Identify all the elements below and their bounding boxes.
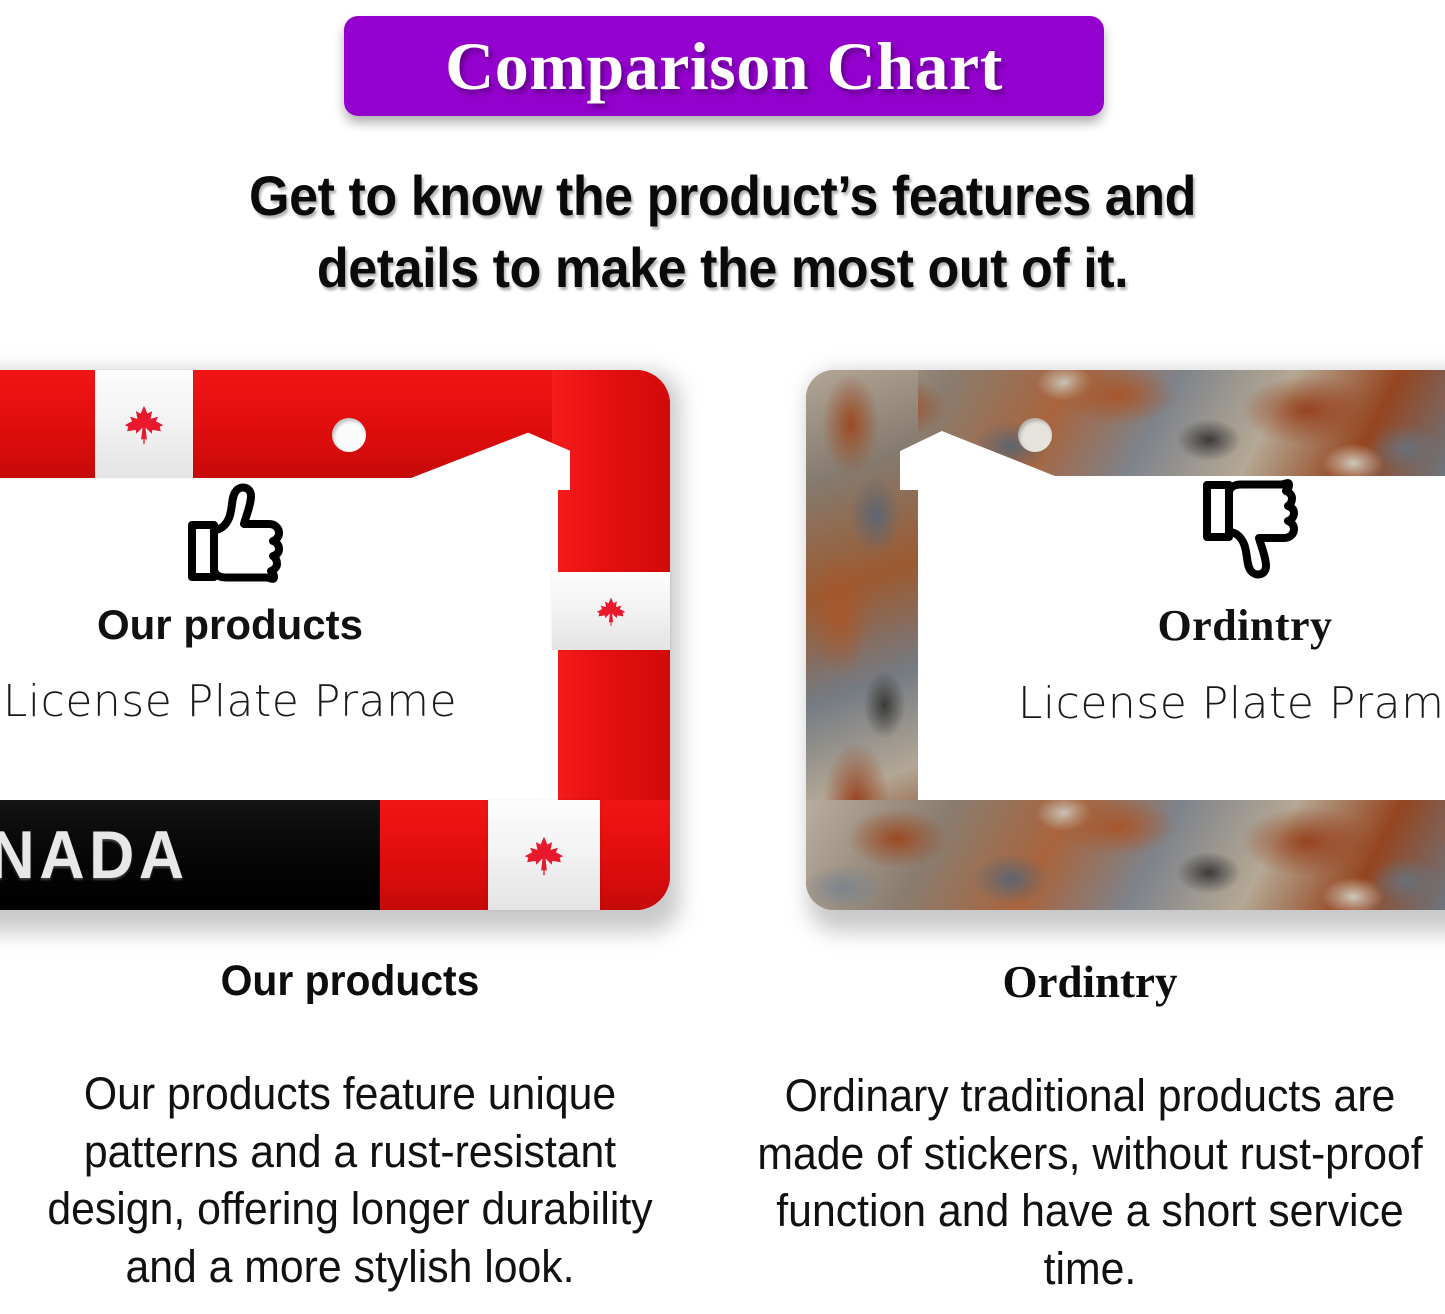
panel-title-ours: Our products (0, 604, 540, 646)
canadian-flag-patch-top (95, 370, 193, 478)
description-body-ordinary: Ordinary traditional products are made o… (753, 1067, 1428, 1297)
panel-subtitle-ordinary: License Plate Prame (930, 682, 1445, 726)
thumbs-up-icon (174, 478, 286, 584)
mounting-hole (332, 418, 366, 452)
frame-bottom-bar (806, 800, 1445, 910)
panel-subtitle-ours: License Plate Prame (0, 680, 540, 724)
product-panel-ordinary: Ordintry License Plate Prame (800, 360, 1445, 920)
canada-plate-band: CANADA (0, 800, 380, 910)
panel-content-ours: Our products License Plate Prame (0, 478, 540, 724)
mounting-hole (1018, 418, 1052, 452)
plate-text: CANADA (0, 816, 189, 894)
panel-content-ordinary: Ordintry License Plate Prame (930, 478, 1445, 726)
description-column-ordinary: Ordintry Ordinary traditional products a… (735, 960, 1445, 1297)
description-column-ours: Our products Our products feature unique… (0, 960, 700, 1295)
description-body-ours: Our products feature unique patterns and… (18, 1065, 683, 1295)
canadian-flag-patch-right (552, 572, 670, 650)
panel-title-ordinary: Ordintry (930, 604, 1445, 648)
description-heading-ordinary: Ordintry (735, 960, 1445, 1005)
thumbs-down-icon (1189, 478, 1301, 584)
description-section: Our products Our products feature unique… (0, 960, 1445, 1314)
description-heading-ours: Our products (18, 960, 683, 1003)
canadian-flag-patch-bottom (488, 800, 600, 910)
product-panel-ours: CANADA Our products License Plate Prame (0, 360, 670, 920)
